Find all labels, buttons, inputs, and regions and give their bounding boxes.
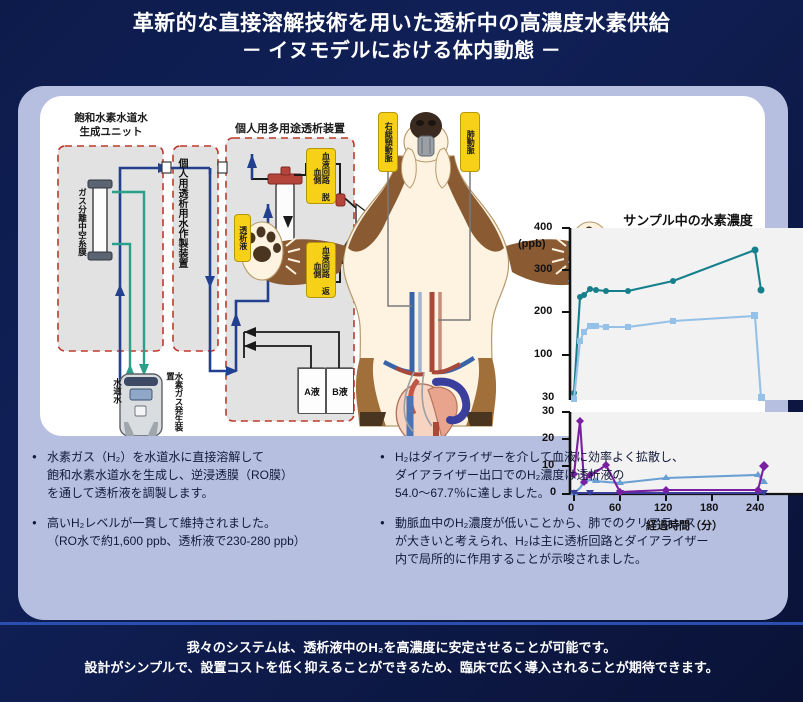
hollow-fiber-membrane [93,184,107,256]
unit1-title: 飽和水素水道水 生成ユニット [50,112,172,139]
bullets-right: H₂はダイアライザーを介して血液に効率よく拡散し、 ダイアライザー出口でのH₂濃… [380,449,784,582]
ytick-30-upper: 30 [542,391,554,403]
bullet-right-1: 動脈血中のH₂濃度が低いことから、肺でのクリアランス が大きいと考えられ、H₂は… [380,515,784,568]
poster-root: 革新的な直接溶解技術を用いた透析中の高濃度水素供給 － イヌモデルにおける体内動… [0,0,803,702]
h2-generator-label: 水素ガス発生装置 [166,372,183,436]
ytick-100: 100 [534,348,552,360]
figure-card: 飽和水素水道水 生成ユニット ガス分離中空糸膜 個人用透析用水作製装置 個人用多… [40,96,765,436]
solution-b-label: B液 [326,368,354,414]
poster-footer: 我々のシステムは、透析液中のH₂を高濃度に安定させることが可能です。 設計がシン… [0,626,803,702]
blood-circuit-return-label: 血液回路 返血側 [306,242,336,298]
ytick-30-lower: 30 [542,405,554,417]
solution-a-label: A液 [298,368,326,414]
hollow-fiber-membrane-label: ガス分離中空糸膜 [78,188,87,298]
right-carotid-artery-label: 右総頸動脈 [378,112,398,172]
tapwater-label: 水道水 [113,378,122,434]
dialysate-label: 透析液 [234,214,251,262]
poster-title-line1: 革新的な直接溶解技術を用いた透析中の高濃度水素供給 [0,0,803,38]
upper-panel-bg [570,228,803,400]
body-panel: 飽和水素水道水 生成ユニット ガス分離中空糸膜 個人用透析用水作製装置 個人用多… [18,86,788,620]
bullets-left: 水素ガス（H₂）を水道水に直接溶解して 飽和水素水道水を生成し、逆浸透膜（RO膜… [32,449,384,564]
bullet-left-1: 高いH₂レベルが一貫して維持されました。 （RO水で約1,600 ppb、透析液… [32,515,384,551]
unit3-title: 個人用多用途透析装置 [226,122,354,136]
ytick-200: 200 [534,305,552,317]
unit2-title: 個人用透析用水作製装置 [176,158,186,338]
ytick-20: 20 [542,432,554,444]
ytick-400: 400 [534,221,552,233]
blood-circuit-out-label: 血液回路 脱血側 [306,148,336,204]
poster-title-line2: － イヌモデルにおける体内動態 － [0,38,803,65]
bullet-left-0: 水素ガス（H₂）を水道水に直接溶解して 飽和水素水道水を生成し、逆浸透膜（RO膜… [32,449,384,502]
footer-divider [0,622,803,625]
poster-header: 革新的な直接溶解技術を用いた透析中の高濃度水素供給 － イヌモデルにおける体内動… [0,0,803,82]
ytick-300: 300 [534,263,552,275]
pulmonary-artery-label: 肺動脈 [460,112,480,172]
bullet-right-0: H₂はダイアライザーを介して血液に効率よく拡散し、 ダイアライザー出口でのH₂濃… [380,449,784,502]
h2-generator-device [120,374,162,436]
unit1-dashed-box [58,146,163,351]
